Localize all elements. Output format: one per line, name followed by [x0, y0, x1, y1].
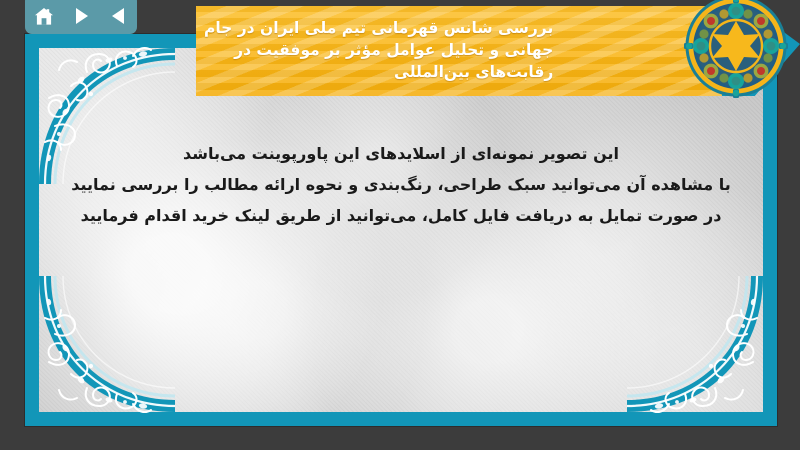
title-banner-notch	[722, 0, 800, 96]
title-banner-band: بررسی شانس قهرمانی تیم ملی ایران در جام …	[196, 6, 722, 96]
previous-slide-button[interactable]	[104, 3, 132, 29]
triangle-left-icon	[110, 7, 127, 25]
slide-title-banner: بررسی شانس قهرمانی تیم ملی ایران در جام …	[196, 0, 800, 96]
triangle-right-icon	[73, 7, 90, 25]
next-slide-button[interactable]	[67, 3, 95, 29]
presentation-viewer: این تصویر نمونه‌ای از اسلایدهای این پاور…	[0, 0, 800, 450]
navigation-toolbar	[25, 0, 137, 34]
body-line-3: در صورت تمایل به دریافت فایل کامل، می‌تو…	[65, 200, 737, 231]
home-icon	[34, 7, 54, 26]
body-line-2: با مشاهده آن می‌توانید سبک طراحی، رنگ‌بن…	[65, 169, 737, 200]
home-button[interactable]	[30, 3, 58, 29]
body-line-1: این تصویر نمونه‌ای از اسلایدهای این پاور…	[65, 138, 737, 169]
slide-body-text: این تصویر نمونه‌ای از اسلایدهای این پاور…	[65, 138, 737, 231]
page-title: بررسی شانس قهرمانی تیم ملی ایران در جام …	[204, 17, 553, 83]
